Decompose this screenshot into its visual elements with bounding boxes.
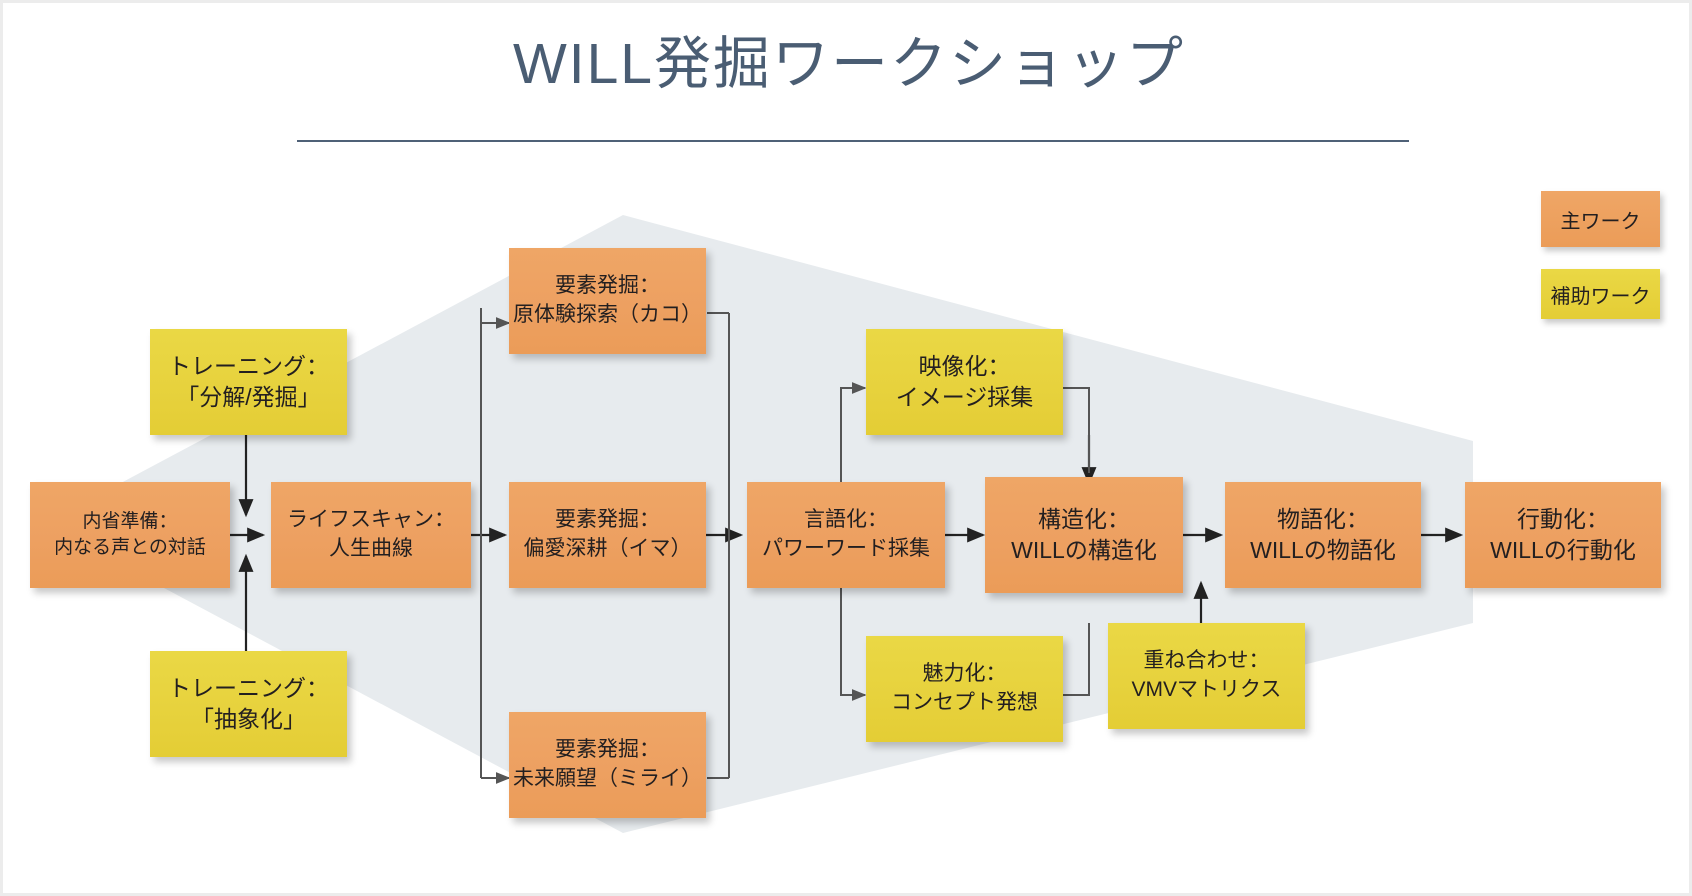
- node-element-future[interactable]: 要素発掘： 未来願望（ミライ）: [509, 712, 706, 818]
- node-visualize[interactable]: 映像化： イメージ採集: [866, 329, 1063, 435]
- legend-label-sub: 補助ワーク: [1551, 280, 1651, 309]
- node-attract[interactable]: 魅力化： コンセプト発想: [866, 636, 1063, 742]
- node-line-1: 重ね合わせ：: [1144, 647, 1270, 676]
- legend-item-sub: 補助ワーク: [1541, 269, 1660, 319]
- node-action[interactable]: 行動化： WILLの行動化: [1465, 482, 1661, 588]
- node-overlay[interactable]: 重ね合わせ： VMVマトリクス: [1108, 623, 1305, 729]
- node-training-decompose[interactable]: トレーニング： 「分解/発掘」: [150, 329, 347, 435]
- node-line-1: 言語化：: [804, 506, 888, 535]
- node-line-2: 「抽象化」: [191, 704, 306, 735]
- legend-item-main: 主ワーク: [1541, 191, 1660, 247]
- node-element-past[interactable]: 要素発掘： 原体験探索（カコ）: [509, 248, 706, 354]
- node-line-2: コンセプト発想: [891, 689, 1038, 718]
- node-line-2: WILLの行動化: [1490, 535, 1636, 566]
- node-element-now[interactable]: 要素発掘： 偏愛深耕（イマ）: [509, 482, 706, 588]
- node-training-abstract[interactable]: トレーニング： 「抽象化」: [150, 651, 347, 757]
- node-line-1: 要素発掘：: [555, 272, 660, 301]
- node-line-1: 魅力化：: [923, 660, 1007, 689]
- node-line-1: 要素発掘：: [555, 736, 660, 765]
- node-prep-introspection[interactable]: 内省準備： 内なる声との対話: [30, 482, 230, 588]
- node-line-1: 行動化：: [1517, 504, 1609, 535]
- node-line-2: WILLの物語化: [1250, 535, 1396, 566]
- node-life-scan[interactable]: ライフスキャン： 人生曲線: [271, 482, 471, 588]
- node-line-1: 内省準備：: [82, 509, 177, 535]
- node-line-2: 偏愛深耕（イマ）: [524, 535, 692, 564]
- node-verbalize[interactable]: 言語化： パワーワード採集: [747, 482, 945, 588]
- node-line-1: ライフスキャン：: [287, 506, 455, 535]
- node-line-2: 内なる声との対話: [54, 535, 206, 561]
- node-line-2: イメージ採集: [896, 382, 1034, 413]
- node-line-2: パワーワード採集: [762, 535, 930, 564]
- node-story[interactable]: 物語化： WILLの物語化: [1225, 482, 1421, 588]
- node-line-2: VMVマトリクス: [1132, 676, 1282, 705]
- node-line-1: 要素発掘：: [555, 506, 660, 535]
- node-line-1: 構造化：: [1038, 504, 1130, 535]
- node-line-1: 物語化：: [1277, 504, 1369, 535]
- slide-canvas: WILL発掘ワークショップ: [0, 0, 1692, 896]
- node-line-2: 原体験探索（カコ）: [513, 301, 702, 330]
- node-line-1: トレーニング：: [168, 351, 329, 382]
- legend-label-main: 主ワーク: [1561, 205, 1641, 234]
- flow-connectors: [3, 3, 1692, 896]
- node-line-1: 映像化：: [919, 351, 1011, 382]
- node-line-2: 人生曲線: [329, 535, 413, 564]
- node-structure[interactable]: 構造化： WILLの構造化: [985, 477, 1183, 593]
- node-line-2: 「分解/発掘」: [176, 382, 320, 413]
- node-line-2: WILLの構造化: [1011, 535, 1157, 566]
- node-line-1: トレーニング：: [168, 673, 329, 704]
- node-line-2: 未来願望（ミライ）: [513, 765, 702, 794]
